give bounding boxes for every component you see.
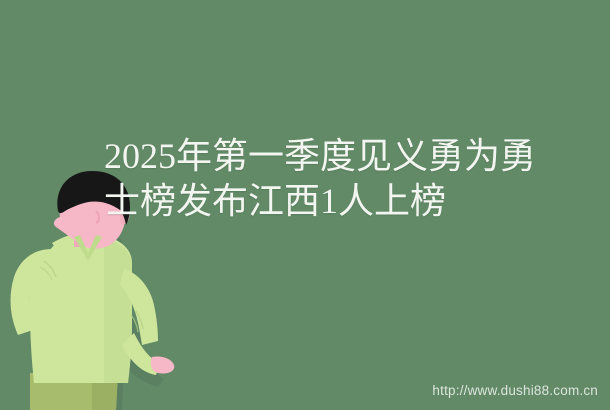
right-hand (151, 356, 174, 373)
page-title: 2025年第一季度见义勇为勇士榜发布江西1人上榜 (104, 134, 556, 224)
watermark-text: http://www.dushi88.com.cn (432, 383, 598, 398)
person-hand-behind-head-illustration (0, 205, 200, 410)
headline-text: 2025年第一季度见义勇为勇士榜发布江西1人上榜 (104, 136, 536, 221)
source-url-watermark: http://www.dushi88.com.cn (432, 383, 598, 398)
sweater-shade (104, 239, 132, 383)
news-cover-banner: 2025年第一季度见义勇为勇士榜发布江西1人上榜 http://www.dush… (0, 0, 610, 410)
